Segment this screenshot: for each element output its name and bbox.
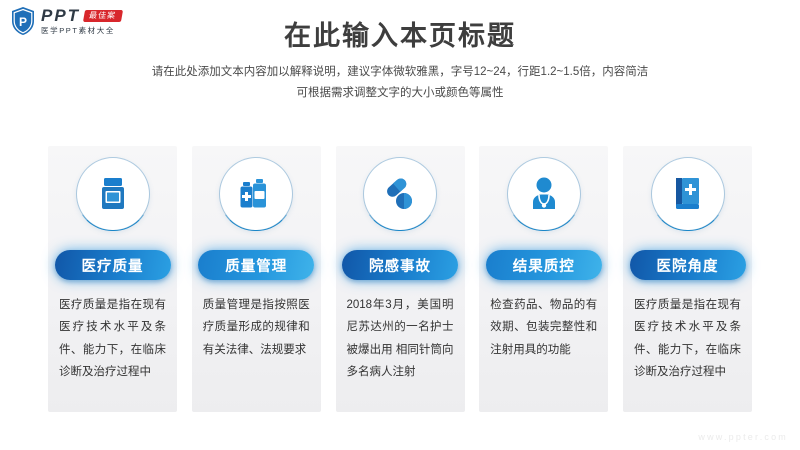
medical-book-icon (652, 158, 724, 230)
card-item[interactable]: 医院角度 医疗质量是指在现有医疗技术水平及条件、能力下，在临床诊断及治疗过程中 (623, 146, 752, 412)
card-item[interactable]: 质量管理 质量管理是指按照医疗质量形成的规律和有关法律、法规要求 (192, 146, 321, 412)
card-body-text: 检查药品、物品的有效期、包装完整性和注射用具的功能 (490, 294, 597, 361)
card-icon-circle (508, 158, 580, 230)
page-subtitle: 请在此处添加文本内容加以解释说明，建议字体微软雅黑，字号12~24，行距1.2~… (0, 62, 800, 105)
subtitle-line-1: 请在此处添加文本内容加以解释说明，建议字体微软雅黑，字号12~24，行距1.2~… (0, 62, 800, 83)
card-icon-circle (364, 158, 436, 230)
card-body-text: 医疗质量是指在现有医疗技术水平及条件、能力下，在临床诊断及治疗过程中 (59, 294, 166, 384)
card-body-text: 质量管理是指按照医疗质量形成的规律和有关法律、法规要求 (203, 294, 310, 361)
doctor-stethoscope-icon (508, 158, 580, 230)
card-label-pill[interactable]: 质量管理 (198, 250, 314, 280)
card-item[interactable]: 院感事故 2018年3月，美国明尼苏达州的一名护士被爆出用 相同针筒向多名病人注… (336, 146, 465, 412)
card-item[interactable]: 医疗质量 医疗质量是指在现有医疗技术水平及条件、能力下，在临床诊断及治疗过程中 (48, 146, 177, 412)
medicine-jar-icon (77, 158, 149, 230)
card-label-pill[interactable]: 医院角度 (630, 250, 746, 280)
card-label-pill[interactable]: 结果质控 (486, 250, 602, 280)
card-icon-circle (652, 158, 724, 230)
page-title: 在此输入本页标题 (0, 14, 800, 53)
card-body-text: 医疗质量是指在现有医疗技术水平及条件、能力下，在临床诊断及治疗过程中 (634, 294, 741, 384)
card-label-pill[interactable]: 院感事故 (342, 250, 458, 280)
card-icon-circle (77, 158, 149, 230)
card-item[interactable]: 结果质控 检查药品、物品的有效期、包装完整性和注射用具的功能 (479, 146, 608, 412)
medicine-bottles-icon (220, 158, 292, 230)
card-body-text: 2018年3月，美国明尼苏达州的一名护士被爆出用 相同针筒向多名病人注射 (347, 294, 454, 384)
card-label-pill[interactable]: 医疗质量 (55, 250, 171, 280)
site-watermark: www.ppter.com (698, 432, 788, 442)
card-icon-circle (220, 158, 292, 230)
card-row: 医疗质量 医疗质量是指在现有医疗技术水平及条件、能力下，在临床诊断及治疗过程中 … (48, 146, 752, 412)
pills-capsule-icon (364, 158, 436, 230)
subtitle-line-2: 可根据需求调整文字的大小或颜色等属性 (0, 83, 800, 104)
